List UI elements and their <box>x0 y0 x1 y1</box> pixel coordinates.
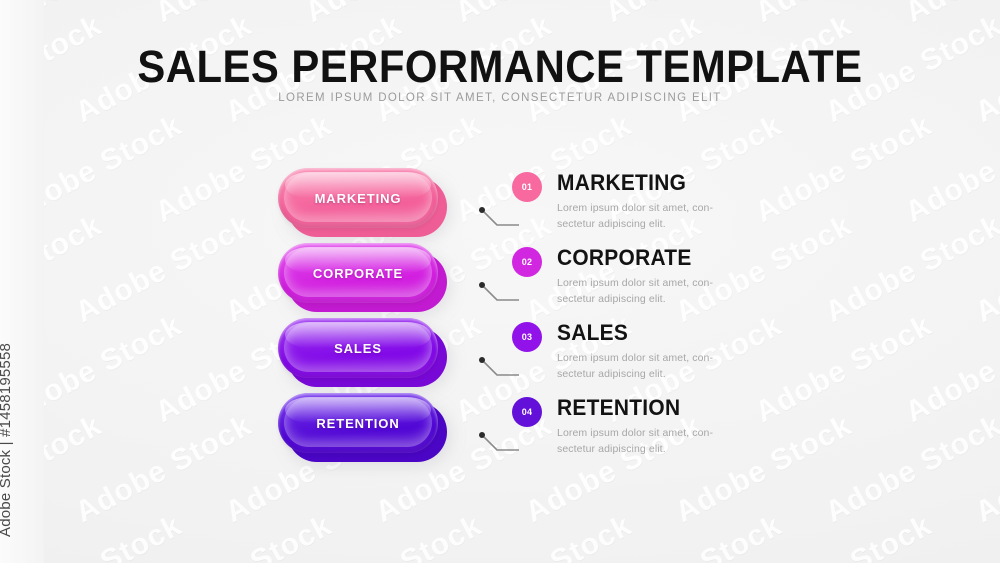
list-item[interactable]: 01MARKETINGLorem ipsum dolor sit amet, c… <box>512 168 932 244</box>
connector-line-icon <box>477 204 523 236</box>
connector-line-icon <box>477 429 523 461</box>
item-title: RETENTION <box>557 395 680 421</box>
item-number-badge: 01 <box>512 172 542 202</box>
infographic-canvas: Adobe StockAdobe StockAdobe StockAdobe S… <box>0 0 1000 563</box>
watermark-tile: Adobe Stock <box>300 0 488 30</box>
list-item[interactable]: 04RETENTIONLorem ipsum dolor sit amet, c… <box>512 393 932 469</box>
item-title: MARKETING <box>557 170 686 196</box>
watermark-tile: Adobe Stock <box>600 0 788 30</box>
item-title: CORPORATE <box>557 245 692 271</box>
item-body-text: Lorem ipsum dolor sit amet, con-sectetur… <box>557 426 732 457</box>
watermark-tile: Adobe Stock <box>150 509 338 563</box>
watermark-tile: Adobe Stock <box>450 0 638 30</box>
watermark-tile: Adobe Stock <box>600 509 788 563</box>
pill-label: CORPORATE <box>313 266 403 281</box>
item-number-badge: 02 <box>512 247 542 277</box>
watermark-tile: Adobe Stock <box>750 0 938 30</box>
page-title: SALES PERFORMANCE TEMPLATE <box>35 44 965 89</box>
pill-face: CORPORATE <box>278 243 438 303</box>
pill-label: SALES <box>334 341 382 356</box>
connector-line-icon <box>477 279 523 311</box>
pill-face: SALES <box>278 318 438 378</box>
watermark-tile: Adobe Stock <box>70 409 258 530</box>
watermark-tile: Adobe Stock <box>900 509 1000 563</box>
page-subtitle: LOREM IPSUM DOLOR SIT AMET, CONSECTETUR … <box>0 92 1000 104</box>
item-body-text: Lorem ipsum dolor sit amet, con-sectetur… <box>557 276 732 307</box>
stock-credit-text: Adobe Stock | #1458195558 <box>0 343 14 537</box>
watermark-tile: Adobe Stock <box>750 509 938 563</box>
item-body-text: Lorem ipsum dolor sit amet, con-sectetur… <box>557 201 732 232</box>
watermark-tile: Adobe Stock <box>970 209 1000 330</box>
watermark-tile: Adobe Stock <box>300 509 488 563</box>
item-number-badge: 03 <box>512 322 542 352</box>
pill-button-retention[interactable]: RETENTION <box>278 393 438 453</box>
watermark-tile: Adobe Stock <box>970 9 1000 130</box>
list-item[interactable]: 02CORPORATELorem ipsum dolor sit amet, c… <box>512 243 932 319</box>
pill-button-corporate[interactable]: CORPORATE <box>278 243 438 303</box>
pill-button-marketing[interactable]: MARKETING <box>278 168 438 228</box>
pill-label: RETENTION <box>316 416 399 431</box>
item-title: SALES <box>557 320 628 346</box>
pill-face: RETENTION <box>278 393 438 453</box>
pill-button-sales[interactable]: SALES <box>278 318 438 378</box>
watermark-tile: Adobe Stock <box>150 0 338 30</box>
item-number-badge: 04 <box>512 397 542 427</box>
watermark-tile: Adobe Stock <box>70 209 258 330</box>
watermark-tile: Adobe Stock <box>900 0 1000 30</box>
pill-face: MARKETING <box>278 168 438 228</box>
item-body-text: Lorem ipsum dolor sit amet, con-sectetur… <box>557 351 732 382</box>
list-item[interactable]: 03SALESLorem ipsum dolor sit amet, con-s… <box>512 318 932 394</box>
connector-line-icon <box>477 354 523 386</box>
watermark-tile: Adobe Stock <box>970 409 1000 530</box>
watermark-tile: Adobe Stock <box>450 509 638 563</box>
pill-stack: MARKETINGCORPORATESALESRETENTION <box>278 168 463 478</box>
pill-label: MARKETING <box>315 191 402 206</box>
